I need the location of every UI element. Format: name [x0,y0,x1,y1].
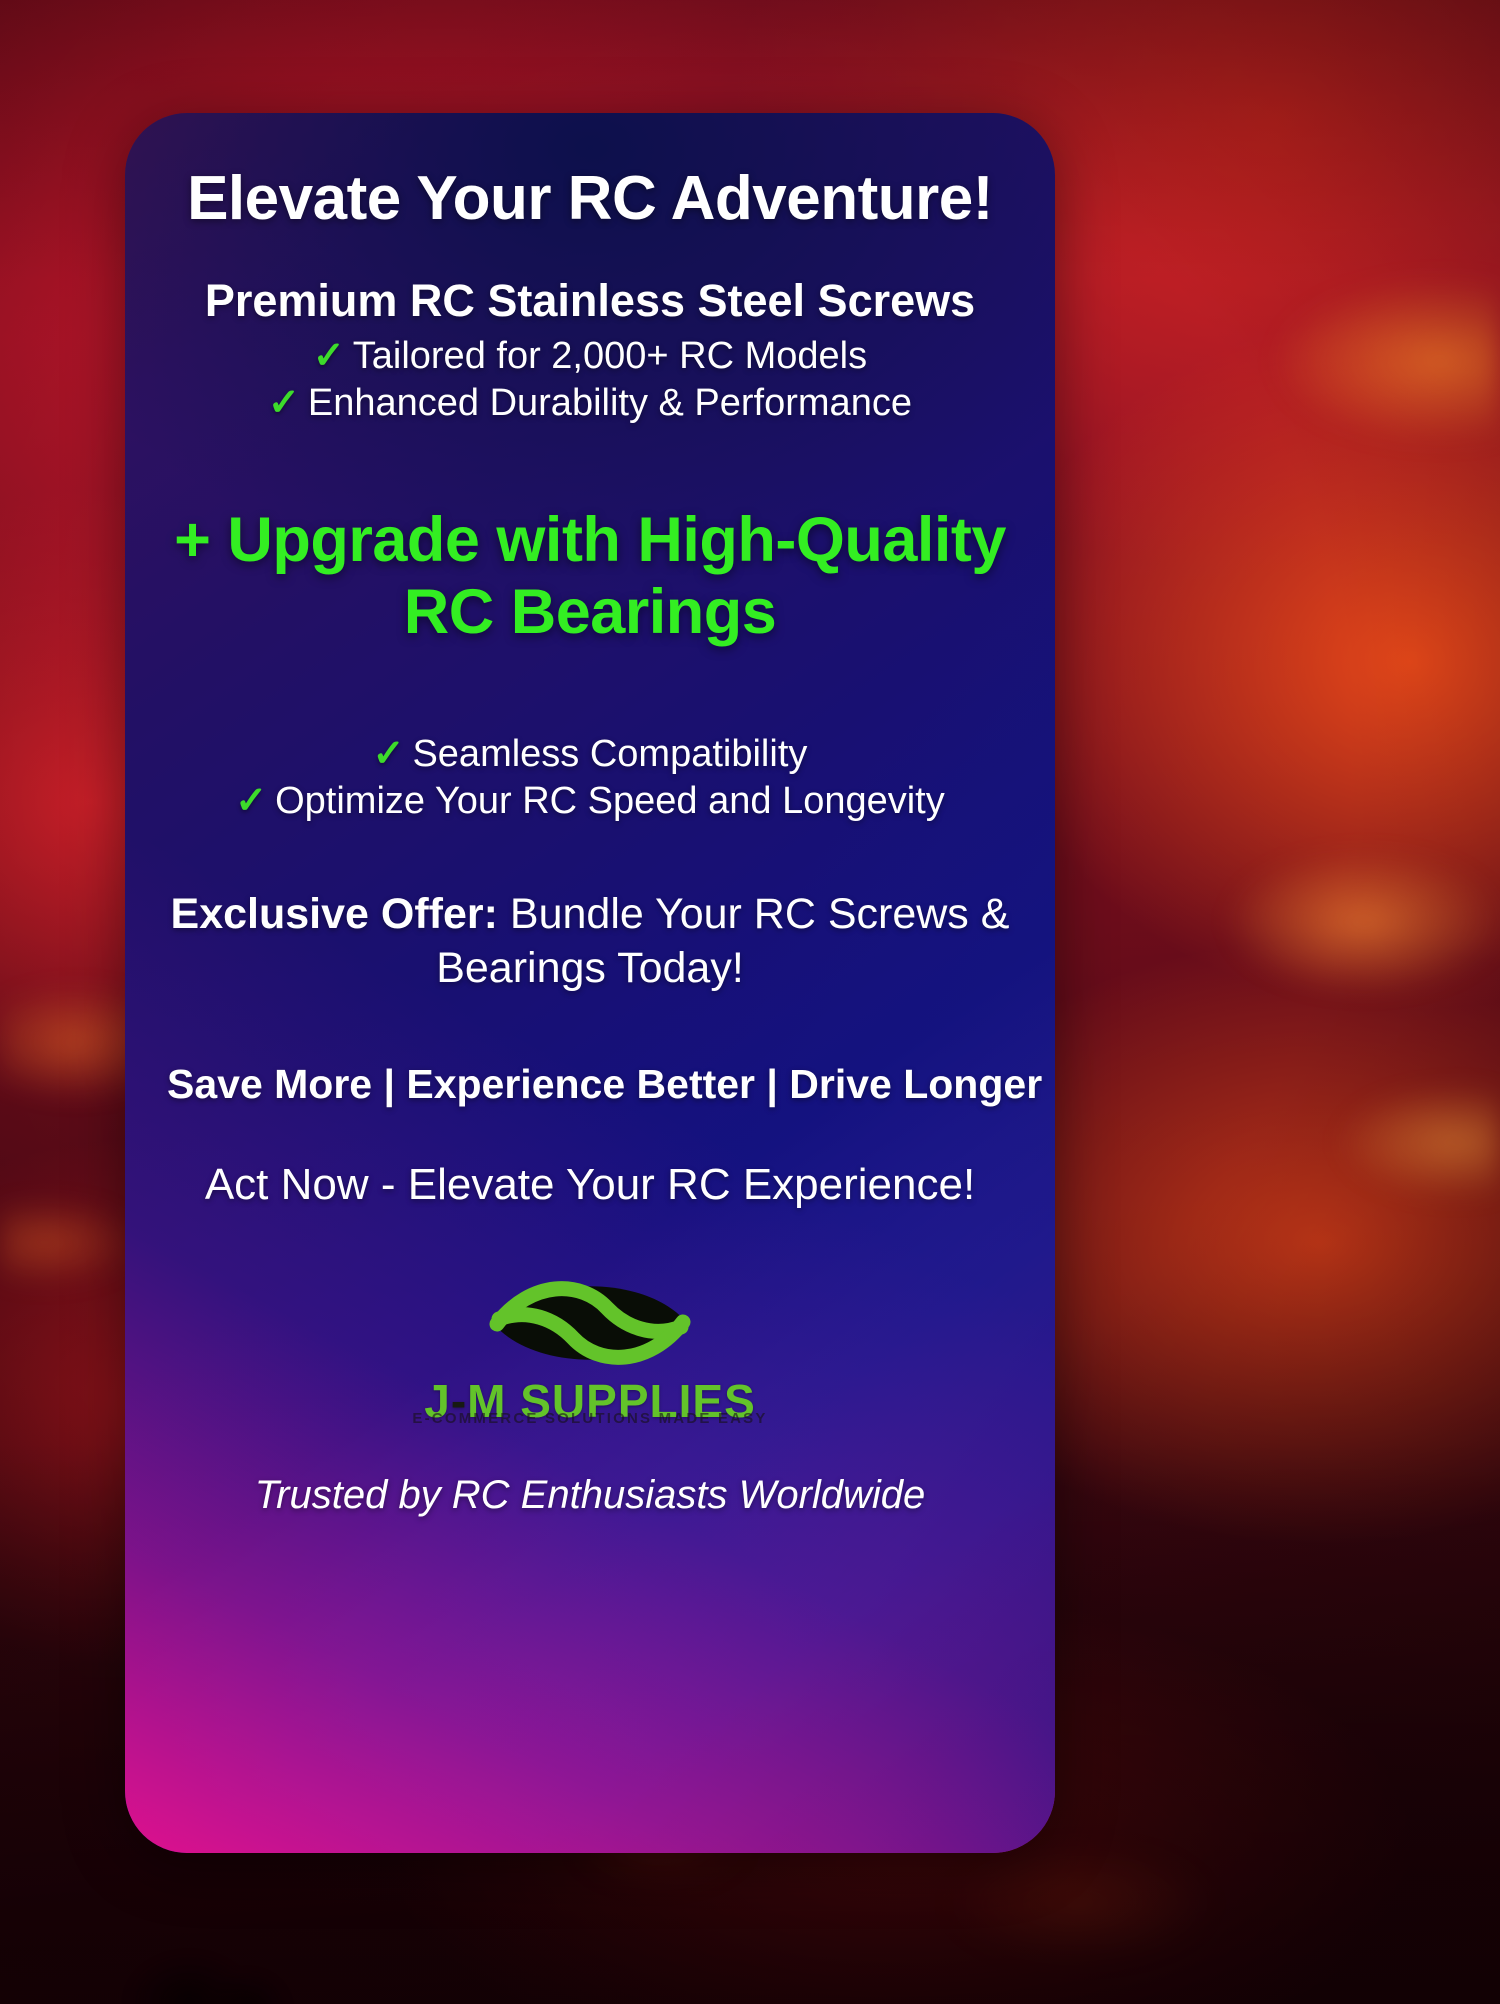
check-icon: ✓ [235,780,267,822]
call-to-action: Act Now - Elevate Your RC Experience! [167,1160,1013,1210]
jm-supplies-eye-logo-icon [485,1264,695,1382]
offer-label: Exclusive Offer: [171,890,498,938]
list-item: ✓Seamless Compatibility [167,731,1013,778]
benefits-line: Save More | Experience Better | Drive Lo… [167,1061,1013,1108]
check-icon: ✓ [373,733,405,775]
page-title: Elevate Your RC Adventure! [167,165,1013,233]
feature-label: Optimize Your RC Speed and Longevity [275,780,945,822]
promo-poster: Elevate Your RC Adventure! Premium RC St… [0,0,1500,2004]
upgrade-headline-line2: RC Bearings [404,577,777,647]
feature-label: Enhanced Durability & Performance [308,382,912,424]
list-item: ✓Tailored for 2,000+ RC Models [167,333,1013,380]
feature-label: Tailored for 2,000+ RC Models [353,335,867,377]
list-item: ✓Enhanced Durability & Performance [167,380,1013,427]
feature-list-primary: ✓Tailored for 2,000+ RC Models ✓Enhanced… [167,333,1013,427]
product-subtitle: Premium RC Stainless Steel Screws [167,275,1013,327]
upgrade-headline-line1: Upgrade with High-Quality [227,505,1006,575]
list-item: ✓Optimize Your RC Speed and Longevity [167,778,1013,825]
trust-footer: Trusted by RC Enthusiasts Worldwide [167,1473,1013,1518]
check-icon: ✓ [268,382,300,424]
plus-sign: + [174,505,210,575]
promo-card: Elevate Your RC Adventure! Premium RC St… [125,113,1055,1853]
feature-label: Seamless Compatibility [412,733,807,775]
offer-text: Bundle Your RC Screws & Bearings Today! [436,890,1009,992]
upgrade-headline: + Upgrade with High-Quality RC Bearings [167,505,1013,649]
brand-logo: J-M SUPPLIES E-COMMERCE SOLUTIONS MADE E… [167,1264,1013,1427]
exclusive-offer: Exclusive Offer: Bundle Your RC Screws &… [167,887,1013,995]
check-icon: ✓ [313,335,345,377]
feature-list-secondary: ✓Seamless Compatibility ✓Optimize Your R… [167,731,1013,825]
card-content: Elevate Your RC Adventure! Premium RC St… [125,113,1055,1518]
background-silhouette [120,1894,350,2004]
logo-tagline: E-COMMERCE SOLUTIONS MADE EASY [412,1410,767,1427]
